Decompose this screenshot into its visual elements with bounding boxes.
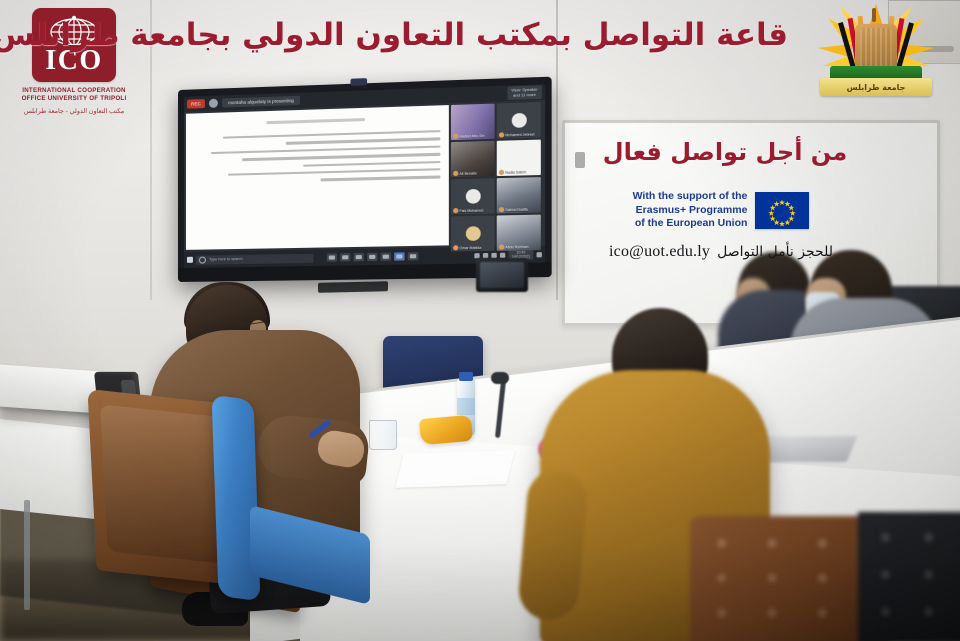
uot-ribbon-label: جامعة طرابلس bbox=[847, 83, 906, 92]
erasmus-support-text: With the support of the Erasmus+ Program… bbox=[633, 190, 748, 231]
contact-prompt: للحجز نأمل التواصل bbox=[717, 244, 833, 260]
erasmus-line-3: of the European Union bbox=[633, 217, 748, 231]
erasmus-line-2: Erasmus+ Programme bbox=[633, 204, 748, 218]
poster-slogan: من أجل تواصل فعال bbox=[600, 138, 850, 166]
erasmus-support-block: With the support of the Erasmus+ Program… bbox=[606, 190, 836, 231]
ico-subtitle-en-1: INTERNATIONAL COOPERATION bbox=[14, 87, 134, 95]
eu-flag-icon bbox=[755, 192, 809, 229]
contact-email[interactable]: ico@uot.edu.ly bbox=[609, 243, 710, 261]
ico-subtitle-en-2: OFFICE UNIVERSITY OF TRIPOLI bbox=[14, 95, 134, 103]
contact-row: ico@uot.edu.ly للحجز نأمل التواصل bbox=[596, 243, 846, 261]
uot-ribbon: جامعة طرابلس bbox=[820, 78, 932, 96]
poster-headline: قاعة التواصل بمكتب التعاون الدولي بجامعة… bbox=[118, 18, 788, 54]
poster-overlay: ICO INTERNATIONAL COOPERATION OFFICE UNI… bbox=[0, 0, 960, 641]
university-of-tripoli-logo: جامعة طرابلس bbox=[800, 2, 950, 106]
event-poster: REC montaha alquelaty is presenting View… bbox=[0, 0, 960, 641]
eu-stars bbox=[755, 192, 809, 229]
erasmus-line-1: With the support of the bbox=[633, 190, 748, 204]
ico-subtitle-ar: مكتب التعاون الدولي - جامعة طرابلس bbox=[14, 107, 134, 115]
